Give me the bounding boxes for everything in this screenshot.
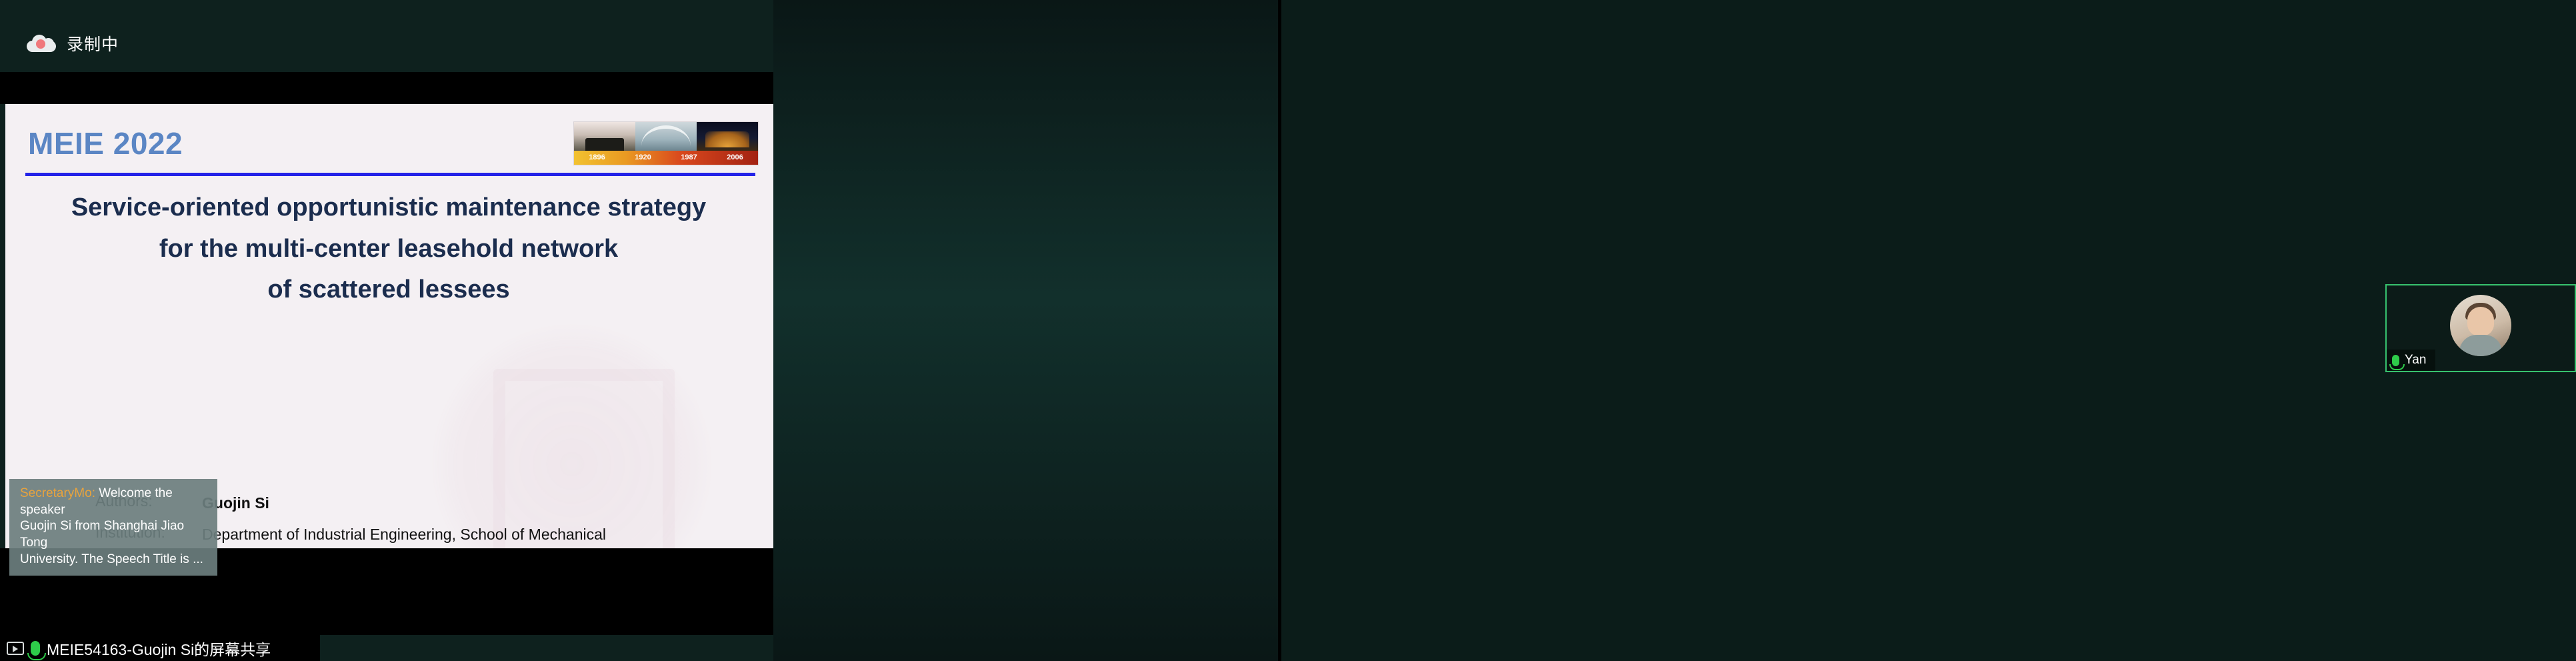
banner-photo-bridge [635, 122, 697, 151]
mic-icon [31, 641, 40, 656]
metadata-value: Department of Industrial Engineering, Sc… [202, 524, 669, 548]
secondary-screen-panel: Evaluation criterion Separability [1281, 0, 2576, 661]
shared-screen-panel: 录制中 MEIE 2022 1896 1920 1987 2006 [0, 0, 773, 661]
conference-name: MEIE 2022 [28, 125, 183, 161]
chat-line-3: University. The Speech Title is ... [20, 552, 208, 568]
presentation-title: Service-oriented opportunistic maintenan… [45, 187, 732, 311]
chat-line-2: Guojin Si from Shanghai Jiao Tong [20, 518, 208, 551]
heading-rule [25, 173, 755, 176]
avatar [2450, 295, 2511, 356]
participant-name: Yan [2405, 353, 2426, 368]
university-heritage-banner: 1896 1920 1987 2006 [573, 121, 759, 165]
banner-year-strip: 1896 1920 1987 2006 [574, 151, 758, 165]
banner-year: 1920 [620, 151, 666, 165]
avatar-body [2459, 335, 2502, 356]
screen-share-icon [7, 642, 24, 655]
banner-photo-building [697, 122, 758, 151]
title-line: for the multi-center leasehold network [45, 229, 732, 270]
recording-label: 录制中 [67, 31, 119, 55]
cloud-record-icon [27, 35, 56, 52]
banner-year: 2006 [712, 151, 758, 165]
banner-year: 1896 [574, 151, 620, 165]
meeting-screen: 录制中 MEIE 2022 1896 1920 1987 2006 [0, 0, 2576, 661]
participant-thumbnail-yan[interactable]: Yan [2385, 284, 2576, 372]
mic-icon [2392, 355, 2399, 366]
banner-photo-campus-gate [574, 122, 635, 151]
chat-line-1: SecretaryMo: Welcome the speaker [20, 486, 208, 518]
recording-indicator: 录制中 [27, 31, 119, 55]
thumbnail-name-badge: Yan [2387, 350, 2435, 371]
screen-share-status-bar: MEIE54163-Guojin Si的屏幕共享 [0, 635, 320, 661]
chat-sender: SecretaryMo: [20, 486, 95, 500]
title-line: Service-oriented opportunistic maintenan… [45, 187, 732, 229]
conference-heading: MEIE 2022 [28, 125, 183, 161]
screen-share-label: MEIE54163-Guojin Si的屏幕共享 [47, 637, 271, 660]
avatar-head [2467, 307, 2494, 336]
banner-year: 1987 [666, 151, 712, 165]
screen-letterbox-top [0, 72, 773, 104]
speaker-video-panel: 正在讲话: MEIE54163-Guojin [773, 0, 1280, 661]
chat-message-toast[interactable]: SecretaryMo: Welcome the speaker Guojin … [9, 479, 217, 576]
title-line: of scattered lessees [45, 269, 732, 311]
